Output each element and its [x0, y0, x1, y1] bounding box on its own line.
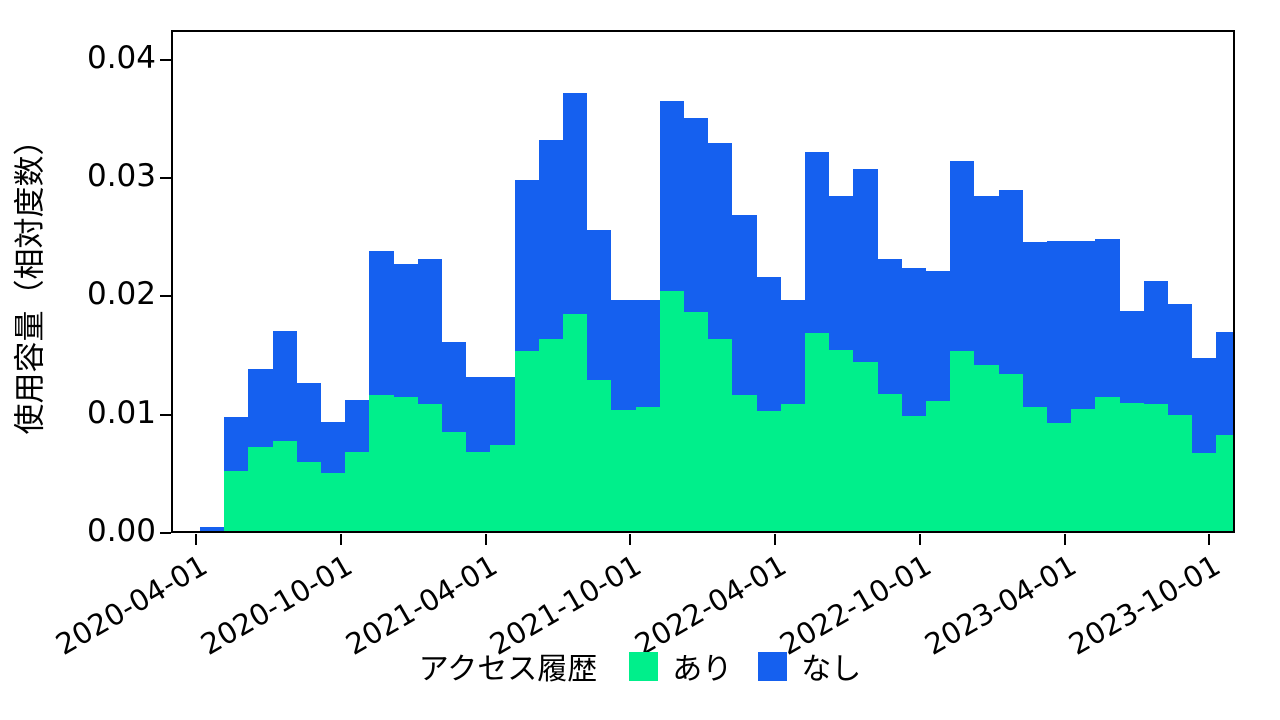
bar-segment-nashi: [297, 383, 321, 462]
y-axis-tick-label: 0.03: [87, 161, 156, 192]
bar-segment-ari: [902, 416, 926, 531]
bar-segment-ari: [974, 365, 998, 531]
bar-segment-nashi: [1047, 241, 1071, 423]
bar-segment-ari: [1216, 435, 1235, 531]
bar-column[interactable]: [563, 93, 587, 531]
y-axis-tick-label: 0.04: [87, 43, 156, 74]
bar-segment-nashi: [248, 369, 272, 447]
bar-segment-nashi: [732, 215, 756, 395]
bar-segment-ari: [660, 291, 684, 531]
bar-segment-ari: [466, 452, 490, 531]
bar-column[interactable]: [902, 268, 926, 531]
bar-segment-nashi: [466, 377, 490, 452]
bar-column[interactable]: [224, 417, 248, 531]
legend-swatch-ari: [629, 652, 658, 681]
x-axis-tick-mark: [629, 534, 631, 545]
y-axis-tick-label: 0.00: [87, 516, 156, 547]
x-axis-tick-mark: [485, 534, 487, 545]
bar-segment-nashi: [708, 143, 732, 339]
bar-column[interactable]: [515, 180, 539, 532]
bar-segment-nashi: [974, 196, 998, 365]
bar-segment-ari: [224, 471, 248, 531]
bar-segment-nashi: [394, 264, 418, 398]
bar-column[interactable]: [369, 251, 393, 531]
bar-column[interactable]: [999, 190, 1023, 531]
x-axis-tick-mark: [1208, 534, 1210, 545]
bar-column[interactable]: [466, 377, 490, 531]
bar-segment-nashi: [950, 161, 974, 352]
bar-segment-ari: [539, 339, 563, 531]
bar-column[interactable]: [418, 259, 442, 531]
bar-segment-nashi: [999, 190, 1023, 373]
bar-segment-ari: [1071, 409, 1095, 531]
bar-segment-nashi: [805, 152, 829, 333]
bar-segment-ari: [1047, 423, 1071, 531]
bar-segment-nashi: [611, 300, 635, 410]
bar-segment-ari: [708, 339, 732, 531]
bar-segment-nashi: [1216, 332, 1235, 435]
bar-segment-ari: [248, 447, 272, 531]
bar-segment-nashi: [1168, 304, 1192, 415]
legend-title: アクセス履歴: [419, 644, 598, 688]
y-axis-tick-label: 0.01: [87, 398, 156, 429]
bar-segment-ari: [418, 404, 442, 531]
bar-segment-ari: [563, 314, 587, 531]
bar-segment-nashi: [902, 268, 926, 416]
y-axis-tick-label: 0.02: [87, 279, 156, 310]
bar-segment-ari: [684, 312, 708, 531]
bar-segment-ari: [1168, 415, 1192, 531]
chart-figure: 使用容量（相対度数） 0.000.010.020.030.04 2020-04-…: [0, 0, 1280, 720]
legend-entry-nashi[interactable]: なし: [758, 644, 861, 688]
bar-segment-ari: [273, 441, 297, 531]
x-axis-tick-mark: [774, 534, 776, 545]
bar-segment-ari: [950, 351, 974, 531]
bar-segment-nashi: [200, 527, 224, 531]
x-axis-tick-mark: [1064, 534, 1066, 545]
bar-segment-ari: [1192, 453, 1216, 531]
bar-segment-nashi: [273, 331, 297, 441]
y-axis-tick-mark: [160, 295, 171, 297]
bar-segment-nashi: [636, 300, 660, 407]
bar-segment-ari: [611, 410, 635, 531]
bar-segment-nashi: [1192, 358, 1216, 453]
bar-column[interactable]: [708, 143, 732, 531]
bar-segment-ari: [587, 380, 611, 531]
bar-column[interactable]: [1120, 311, 1144, 531]
bar-series-container: [173, 32, 1233, 531]
bar-column[interactable]: [539, 140, 563, 531]
bar-column[interactable]: [853, 169, 877, 531]
bar-segment-ari: [1095, 397, 1119, 531]
bar-segment-nashi: [345, 400, 369, 452]
legend-label-ari: あり: [672, 644, 732, 688]
bar-segment-nashi: [224, 417, 248, 470]
bar-column[interactable]: [394, 264, 418, 531]
bar-segment-ari: [781, 404, 805, 531]
bar-column[interactable]: [636, 300, 660, 531]
bar-segment-ari: [1144, 404, 1168, 531]
x-axis-tick-mark: [340, 534, 342, 545]
bar-segment-ari: [853, 362, 877, 531]
y-axis-tick-mark: [160, 177, 171, 179]
bar-column[interactable]: [200, 527, 224, 531]
bar-segment-ari: [515, 351, 539, 531]
bar-segment-nashi: [781, 300, 805, 404]
legend-swatch-nashi: [758, 652, 787, 681]
bar-segment-nashi: [1095, 239, 1119, 398]
bar-segment-ari: [732, 395, 756, 531]
bar-segment-nashi: [684, 118, 708, 312]
bar-segment-nashi: [587, 230, 611, 379]
bar-column[interactable]: [490, 377, 514, 531]
bar-column[interactable]: [345, 400, 369, 531]
bar-segment-nashi: [563, 93, 587, 314]
bar-column[interactable]: [321, 422, 345, 531]
bar-segment-ari: [394, 397, 418, 531]
bar-segment-nashi: [369, 251, 393, 395]
bar-segment-nashi: [442, 342, 466, 432]
bar-segment-ari: [878, 394, 902, 531]
y-axis-tick-mark: [160, 414, 171, 416]
bar-segment-nashi: [878, 259, 902, 394]
bar-segment-ari: [1023, 407, 1047, 531]
bar-column[interactable]: [805, 152, 829, 531]
bar-segment-ari: [442, 432, 466, 531]
bar-segment-nashi: [757, 277, 781, 412]
bar-column[interactable]: [684, 118, 708, 531]
y-axis-tick-mark: [160, 532, 171, 534]
bar-segment-ari: [369, 395, 393, 531]
bar-column[interactable]: [829, 196, 853, 531]
bar-segment-nashi: [515, 180, 539, 352]
bar-column[interactable]: [273, 331, 297, 531]
bar-column[interactable]: [611, 300, 635, 531]
bar-column[interactable]: [248, 369, 272, 531]
bar-segment-ari: [1120, 403, 1144, 531]
bar-segment-ari: [321, 473, 345, 531]
bar-segment-nashi: [660, 101, 684, 290]
bar-column[interactable]: [1168, 304, 1192, 531]
bar-column[interactable]: [757, 277, 781, 531]
bar-segment-ari: [636, 407, 660, 531]
bar-column[interactable]: [1095, 239, 1119, 531]
bar-column[interactable]: [1023, 242, 1047, 531]
bar-column[interactable]: [1144, 281, 1168, 531]
bar-segment-ari: [805, 333, 829, 531]
bar-column[interactable]: [878, 259, 902, 531]
bar-segment-nashi: [1023, 242, 1047, 407]
bar-segment-ari: [926, 401, 950, 531]
bar-segment-nashi: [853, 169, 877, 362]
bar-column[interactable]: [297, 383, 321, 531]
bar-segment-nashi: [418, 259, 442, 405]
plot-area: [171, 30, 1235, 533]
x-axis-tick-mark: [195, 534, 197, 545]
bar-segment-ari: [345, 452, 369, 531]
bar-column[interactable]: [950, 161, 974, 531]
bar-segment-nashi: [1120, 311, 1144, 403]
bar-column[interactable]: [781, 300, 805, 531]
bar-segment-nashi: [1144, 281, 1168, 404]
bar-column[interactable]: [660, 101, 684, 531]
bar-column[interactable]: [1216, 332, 1235, 531]
bar-column[interactable]: [1047, 241, 1071, 531]
bar-column[interactable]: [926, 271, 950, 531]
x-axis-tick-mark: [919, 534, 921, 545]
bar-segment-ari: [999, 374, 1023, 531]
bar-segment-ari: [490, 445, 514, 531]
bar-column[interactable]: [732, 215, 756, 531]
bar-segment-nashi: [829, 196, 853, 350]
legend-entry-ari[interactable]: あり: [629, 644, 732, 688]
legend-label-nashi: なし: [801, 644, 861, 688]
bar-column[interactable]: [442, 342, 466, 531]
bar-column[interactable]: [1192, 358, 1216, 531]
bar-segment-nashi: [539, 140, 563, 339]
bar-segment-nashi: [926, 271, 950, 401]
bar-segment-nashi: [321, 422, 345, 473]
bar-segment-nashi: [1071, 241, 1095, 409]
chart-legend: アクセス履歴 あり なし: [0, 644, 1280, 688]
y-axis-tick-mark: [160, 59, 171, 61]
y-axis-label: 使用容量（相対度数）: [5, 20, 50, 540]
bar-segment-ari: [829, 350, 853, 531]
bar-column[interactable]: [974, 196, 998, 531]
bar-column[interactable]: [1071, 241, 1095, 531]
bar-segment-ari: [297, 462, 321, 531]
bar-column[interactable]: [587, 230, 611, 531]
bar-segment-ari: [757, 411, 781, 531]
bar-segment-nashi: [490, 377, 514, 444]
